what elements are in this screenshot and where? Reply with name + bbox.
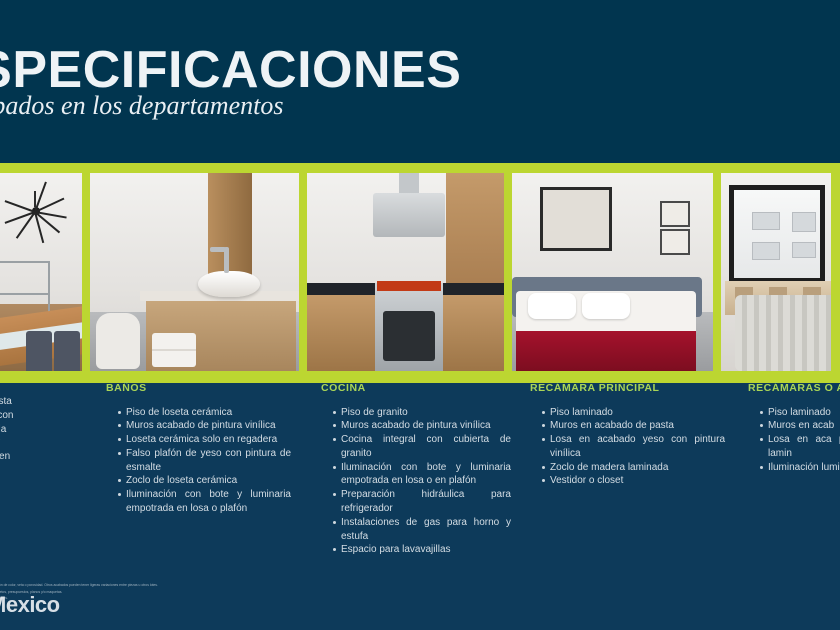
col-recamaras-o-a: RECÁMARAS O A Piso laminado Muros en aca… xyxy=(748,383,840,474)
page-title: ESPECIFICACIONES xyxy=(0,44,461,96)
recamara-principal-photo xyxy=(512,173,713,371)
column-list-recamaras: Piso laminado Muros en acab Losa en aca … xyxy=(748,406,840,475)
column-list-cocina: Piso de granito Muros acabado de pintura… xyxy=(321,406,511,558)
chandelier-icon xyxy=(0,191,76,245)
list-item: Piso laminado xyxy=(760,406,840,420)
list-item: Espacio para lavavajillas xyxy=(333,543,511,557)
list-item: Instalaciones de gas para horno y estufa xyxy=(333,516,511,544)
list-item: Piso de granito xyxy=(333,406,511,420)
column-title-banos: BAÑOS xyxy=(106,383,291,394)
list-item: Losa en aca pintura vini madera lamin xyxy=(760,433,840,461)
recamara-secundaria-photo xyxy=(721,173,831,371)
column-title-recamara-principal: RECÁMARA PRINCIPAL xyxy=(530,383,725,394)
list-item: Muros acabado de pintura vinílica xyxy=(118,419,291,433)
page-subtitle: Acabados en los departamentos xyxy=(0,92,283,121)
list-item: Muros acabado de pintura vinílica xyxy=(333,419,511,433)
list-item: mpotrada en xyxy=(0,450,114,464)
specification-columns: ado de pasta ado yeso con ra laminada co… xyxy=(0,383,840,583)
list-item: Preparación hidráulica para refrigerador xyxy=(333,488,511,516)
list-item: con bote y xyxy=(0,436,114,450)
column-list: ado de pasta ado yeso con ra laminada co… xyxy=(0,395,114,464)
list-item: Vestidor o closet xyxy=(542,474,725,488)
list-item: Losa en acabado yeso con pintura vinílic… xyxy=(542,433,725,461)
col-recamara-principal: RECÁMARA PRINCIPAL Piso laminado Muros e… xyxy=(530,383,725,488)
bano-photo xyxy=(90,173,299,371)
col-cut-left: ado de pasta ado yeso con ra laminada co… xyxy=(0,383,114,464)
cocina-photo xyxy=(307,173,504,371)
list-item: Zoclo de loseta cerámica xyxy=(118,474,291,488)
header-banner: ESPECIFICACIONES Acabados en los departa… xyxy=(0,0,840,163)
list-item: Piso de loseta cerámica xyxy=(118,406,291,420)
list-item: Iluminación con bote y luminaria empotra… xyxy=(118,488,291,516)
column-title-recamaras: RECÁMARAS O A xyxy=(748,383,840,394)
list-item: Loseta cerámica solo en regadera xyxy=(118,433,291,447)
fine-print-line: natural están sujetos a variación de col… xyxy=(0,582,374,589)
comedor-photo xyxy=(0,173,82,371)
column-title-cocina: COCINA xyxy=(321,383,511,394)
slide-page: ESPECIFICACIONES Acabados en los departa… xyxy=(0,0,840,630)
list-item: Iluminación con bote y luminaria empotra… xyxy=(333,461,511,489)
list-item: Muros en acab xyxy=(760,419,840,433)
col-cocina: COCINA Piso de granito Muros acabado de … xyxy=(321,383,511,557)
list-item: Cocina integral con cubierta de granito xyxy=(333,433,511,461)
list-item: Iluminación luminaria em plafón xyxy=(760,461,840,475)
list-item: Piso laminado xyxy=(542,406,725,420)
column-list-recamara-principal: Piso laminado Muros en acabado de pasta … xyxy=(530,406,725,489)
list-item: Muros en acabado de pasta xyxy=(542,419,725,433)
watermark-label: use.Mexico xyxy=(0,592,60,618)
list-item: Zoclo de madera laminada xyxy=(542,461,725,475)
col-banos: BAÑOS Piso de loseta cerámica Muros acab… xyxy=(106,383,291,516)
photo-strip xyxy=(0,173,840,371)
list-item: ado yeso con xyxy=(0,409,114,423)
column-list-banos: Piso de loseta cerámica Muros acabado de… xyxy=(106,406,291,516)
list-item: Falso plafón de yeso con pintura de esma… xyxy=(118,447,291,475)
list-item: ado de pasta xyxy=(0,395,114,409)
list-item: ra laminada xyxy=(0,423,114,437)
